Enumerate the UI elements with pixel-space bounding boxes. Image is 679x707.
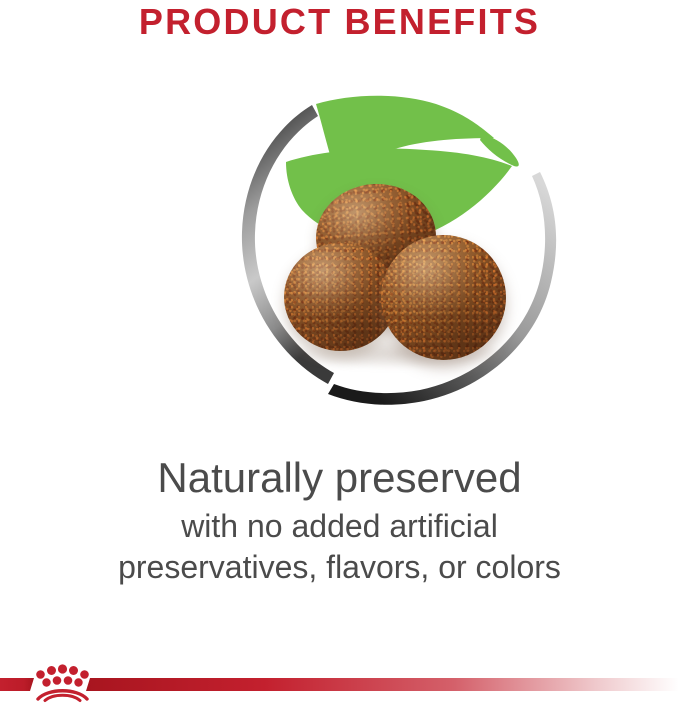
crown-arc-inner (45, 695, 80, 700)
brand-bar-right (86, 678, 679, 691)
royal-canin-crown-logo (0, 655, 679, 707)
brand-footer (0, 655, 679, 707)
kibble-shading (381, 235, 506, 360)
kibble-pieces (230, 88, 550, 423)
page-title: PRODUCT BENEFITS (0, 2, 679, 42)
benefit-headline: Naturally preserved (0, 452, 679, 504)
benefit-subline-2: preservatives, flavors, or colors (0, 547, 679, 587)
benefit-subline-1: with no added artificial (0, 506, 679, 546)
brand-bar-left (0, 678, 34, 691)
naturally-preserved-emblem (230, 88, 550, 423)
kibble-piece-right (381, 235, 506, 360)
product-benefits-page: PRODUCT BENEFITS (0, 0, 679, 707)
crown-dots-bottom (42, 676, 82, 687)
crown-dots-top (36, 664, 89, 678)
benefit-copy: Naturally preserved with no added artifi… (0, 452, 679, 587)
